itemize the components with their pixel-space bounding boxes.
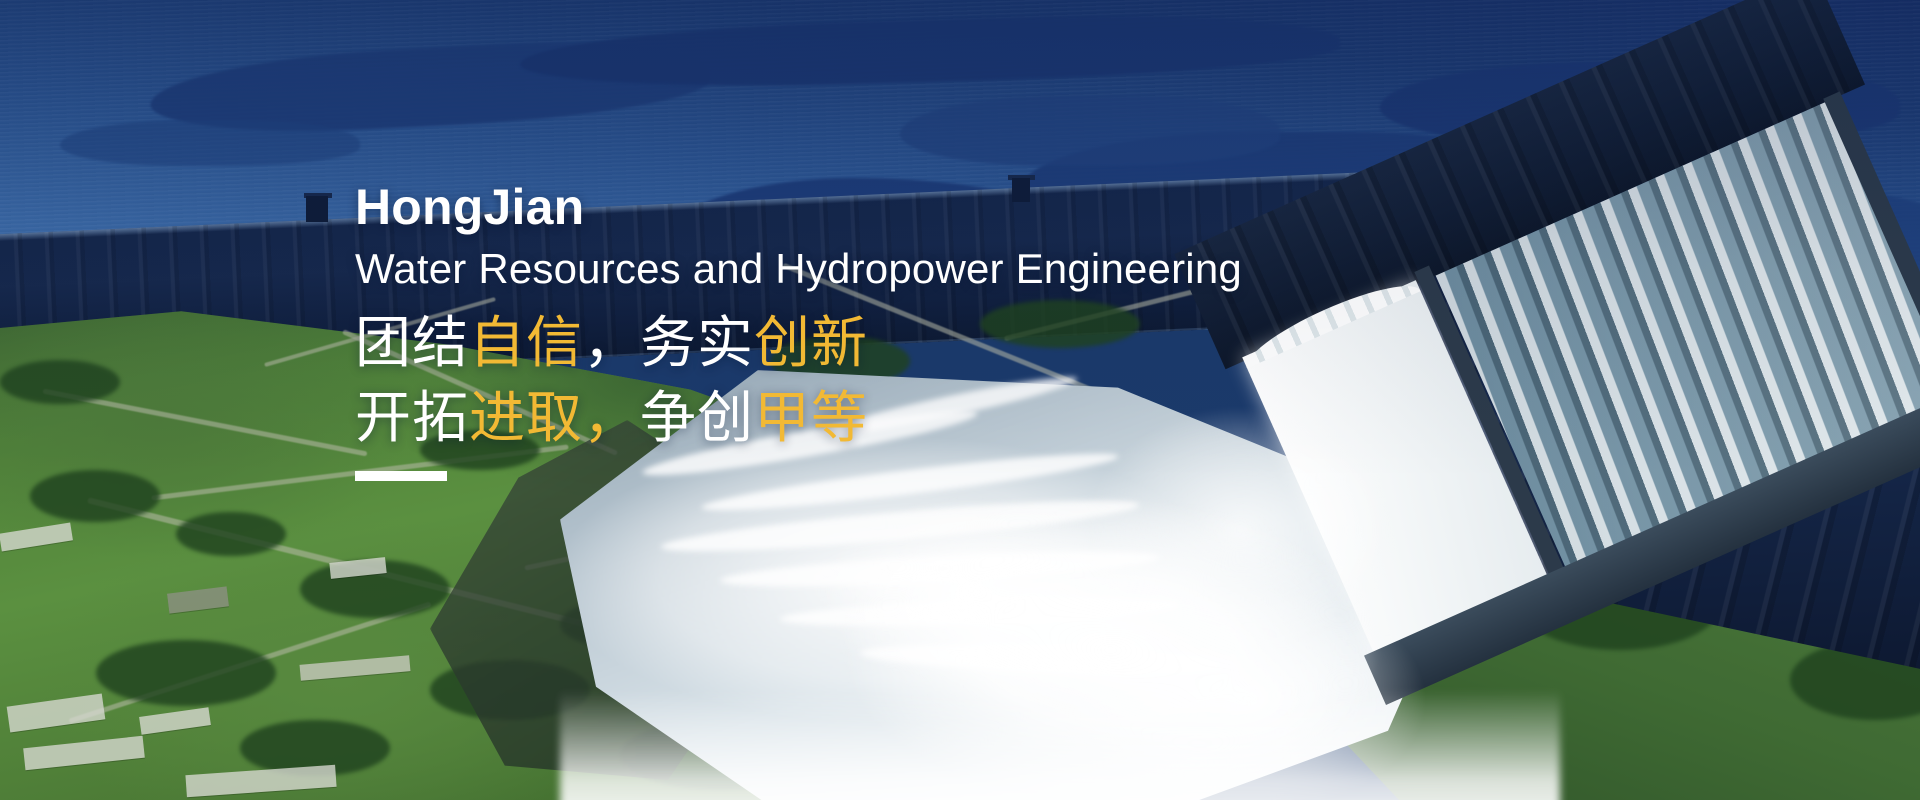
slogan-1-segment-4: 务实 (640, 311, 754, 374)
tagline-english: Water Resources and Hydropower Engineeri… (355, 243, 1555, 295)
slogan-2-segment-3: ， (583, 386, 640, 449)
shoreline-island (900, 96, 1280, 166)
tree-cluster (96, 640, 276, 706)
slogan-line-2: 开拓进取，争创甲等 (355, 380, 1555, 455)
gantry-crane (306, 196, 328, 222)
slogan-1-segment-1: 团结 (355, 311, 469, 374)
mist-haze (560, 690, 1560, 800)
tree-cluster (30, 470, 160, 522)
slogan-1-segment-3: ， (583, 311, 640, 374)
decorative-underline-bar (355, 471, 447, 481)
slogan-1-segment-5: 创新 (754, 311, 868, 374)
hydropower-hero-banner: HongJian Water Resources and Hydropower … (0, 0, 1920, 800)
slogan-2-segment-2: 进取 (469, 386, 583, 449)
banner-copy-block: HongJian Water Resources and Hydropower … (355, 178, 1555, 481)
tree-cluster (0, 360, 120, 404)
tree-cluster (176, 512, 286, 556)
slogan-2-segment-1: 开拓 (355, 386, 469, 449)
brand-name: HongJian (355, 178, 1555, 237)
slogan-2-segment-5: 甲等 (754, 386, 868, 449)
slogan-2-segment-4: 争创 (640, 386, 754, 449)
shoreline-island (60, 120, 360, 166)
slogan-line-1: 团结自信，务实创新 (355, 305, 1555, 380)
slogan-1-segment-2: 自信 (469, 311, 583, 374)
